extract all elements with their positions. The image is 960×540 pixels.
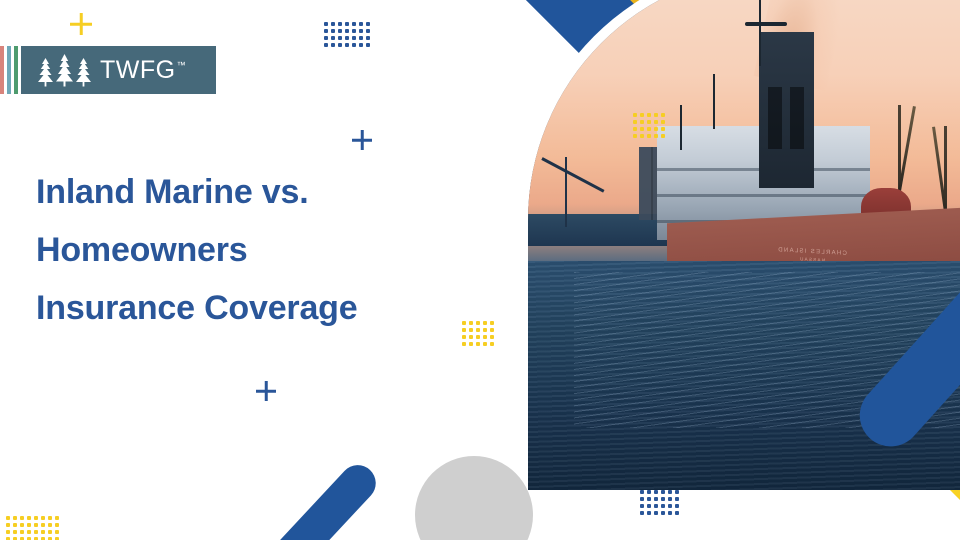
dot [13, 530, 17, 534]
dot [366, 22, 370, 26]
dot [462, 321, 466, 325]
headline-line-1: Inland Marine vs. [36, 164, 466, 222]
dot [20, 530, 24, 534]
dot [633, 120, 637, 124]
dot [55, 523, 59, 527]
dot [469, 342, 473, 346]
dot [41, 516, 45, 520]
dot [647, 497, 651, 501]
dot [48, 516, 52, 520]
dot [647, 127, 651, 131]
dot [675, 497, 679, 501]
dot [654, 113, 658, 117]
dot [476, 321, 480, 325]
dot [324, 36, 328, 40]
logo-stripe-salmon [0, 46, 4, 94]
dot [476, 342, 480, 346]
dot [483, 342, 487, 346]
dot [483, 328, 487, 332]
dot [640, 127, 644, 131]
dock-crane-arm [541, 157, 604, 193]
dot [352, 43, 356, 47]
dot [345, 36, 349, 40]
dot [55, 530, 59, 534]
dot [661, 120, 665, 124]
deck-band-2 [657, 194, 870, 197]
dot [324, 22, 328, 26]
dot [640, 511, 644, 515]
dot [6, 523, 10, 527]
dot [640, 504, 644, 508]
dot [675, 490, 679, 494]
dot [654, 511, 658, 515]
dot [661, 511, 665, 515]
dot [41, 530, 45, 534]
dot [352, 29, 356, 33]
dot [462, 335, 466, 339]
dot [654, 504, 658, 508]
dot [647, 511, 651, 515]
headline-line-2: Homeowners [36, 222, 466, 280]
dot [34, 530, 38, 534]
dot [490, 335, 494, 339]
dot [490, 342, 494, 346]
dot [654, 120, 658, 124]
dot [48, 523, 52, 527]
dot [359, 36, 363, 40]
plus-blue-lower-icon [256, 381, 276, 401]
dot [41, 523, 45, 527]
dot [661, 113, 665, 117]
dot [469, 328, 473, 332]
dot [34, 516, 38, 520]
dot [27, 523, 31, 527]
dot [366, 43, 370, 47]
ship-funnel [759, 32, 814, 188]
funnel-vent-left [768, 87, 782, 149]
dot [668, 511, 672, 515]
artwork-region: CHARLES ISLANDNASSAU [490, 0, 960, 540]
dot [647, 134, 651, 138]
dot [345, 22, 349, 26]
ship-mast-main [759, 0, 761, 66]
dot [352, 22, 356, 26]
page-title: Inland Marine vs. Homeowners Insurance C… [36, 164, 466, 337]
dot [331, 43, 335, 47]
dot [324, 29, 328, 33]
dot [633, 113, 637, 117]
funnel-vent-right [790, 87, 804, 149]
dot [469, 321, 473, 325]
dot [352, 36, 356, 40]
dot [490, 321, 494, 325]
dot [675, 511, 679, 515]
dot [27, 530, 31, 534]
dot [55, 516, 59, 520]
dot [668, 497, 672, 501]
dot [476, 335, 480, 339]
dot [654, 497, 658, 501]
dot [640, 497, 644, 501]
logo-wordmark-text: TWFG [100, 56, 176, 84]
logo-box: TWFG™ [21, 46, 216, 94]
dot [654, 127, 658, 131]
dot [359, 22, 363, 26]
dot [331, 36, 335, 40]
dot [324, 43, 328, 47]
dot [647, 113, 651, 117]
dot [462, 342, 466, 346]
dot [640, 134, 644, 138]
dot [20, 516, 24, 520]
dot-grid-yellow-mid [633, 113, 667, 135]
dot [6, 530, 10, 534]
plus-blue-upper-icon [352, 130, 372, 150]
headline-line-3: Insurance Coverage [36, 280, 466, 338]
dot [13, 516, 17, 520]
dot [366, 36, 370, 40]
dot [640, 113, 644, 117]
dot [661, 134, 665, 138]
dot [483, 321, 487, 325]
dot [661, 504, 665, 508]
dot [661, 490, 665, 494]
dot [359, 29, 363, 33]
logo-trademark-symbol: ™ [177, 60, 187, 70]
logo-stripe-green [14, 46, 18, 94]
dot [647, 490, 651, 494]
dot [675, 504, 679, 508]
dot [661, 127, 665, 131]
dot-grid-blue-bottom [640, 490, 680, 516]
dot [633, 127, 637, 131]
dot [331, 29, 335, 33]
dot [338, 36, 342, 40]
twfg-logo[interactable]: TWFG™ [0, 46, 216, 94]
dot [647, 120, 651, 124]
ship-mast-aux [680, 105, 682, 150]
dot [20, 523, 24, 527]
dot [366, 29, 370, 33]
dot [654, 134, 658, 138]
dock-crane-mast [565, 157, 567, 227]
dot [34, 523, 38, 527]
dot [668, 490, 672, 494]
dot [338, 43, 342, 47]
logo-stripe-teal [7, 46, 11, 94]
dot-grid-yellow-left [462, 321, 496, 343]
dot [27, 516, 31, 520]
radar-antenna [745, 22, 787, 26]
dot [668, 504, 672, 508]
dot [345, 29, 349, 33]
logo-wordmark: TWFG™ [100, 58, 186, 83]
title-slide: CHARLES ISLANDNASSAU [0, 0, 960, 540]
blue-rounded-bar-bottom [255, 458, 384, 540]
dot [6, 516, 10, 520]
dot-grid-blue-top [324, 22, 368, 46]
dot [654, 490, 658, 494]
dot [338, 22, 342, 26]
dot [640, 120, 644, 124]
dot [640, 490, 644, 494]
plus-yellow-icon [70, 13, 92, 35]
dot [647, 504, 651, 508]
dot [462, 328, 466, 332]
dot [469, 335, 473, 339]
dot [48, 530, 52, 534]
dot [661, 497, 665, 501]
dot [483, 335, 487, 339]
dot [633, 134, 637, 138]
dot [345, 43, 349, 47]
dot-grid-yellow-corner [6, 516, 54, 540]
dot [13, 523, 17, 527]
logo-stripes [0, 46, 21, 94]
dot [476, 328, 480, 332]
dot [359, 43, 363, 47]
three-pine-trees-icon [37, 53, 92, 87]
dot [490, 328, 494, 332]
dot [331, 22, 335, 26]
dot [338, 29, 342, 33]
ship-mast-fore [713, 74, 715, 129]
